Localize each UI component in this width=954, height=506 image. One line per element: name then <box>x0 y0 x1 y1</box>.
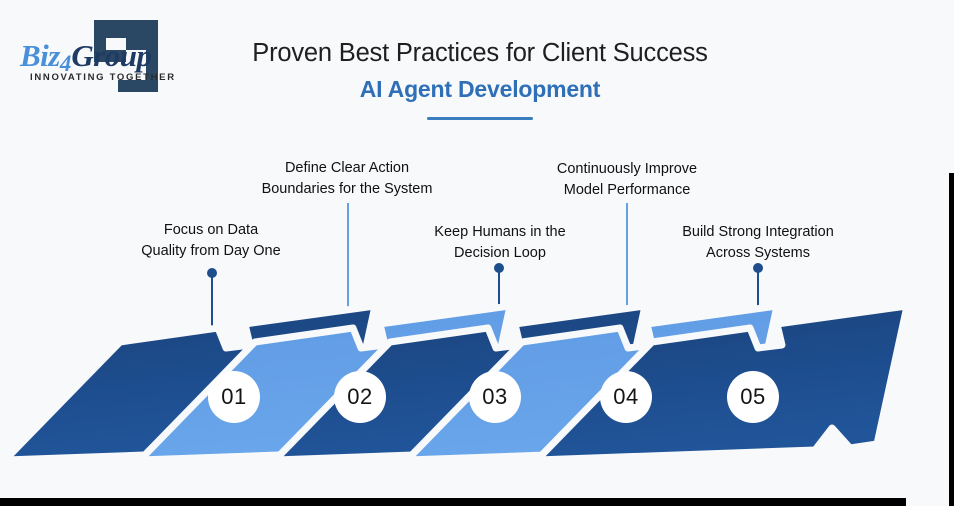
step-label-02: Define Clear Action Boundaries for the S… <box>232 158 462 200</box>
step-label-01-line1: Focus on Data <box>96 220 326 241</box>
right-edge-bar <box>949 173 954 506</box>
step-number-03: 03 <box>482 384 507 410</box>
bottom-edge-bar <box>0 498 906 506</box>
step-label-03-line1: Keep Humans in the <box>385 222 615 243</box>
logo-wordmark: Biz4Group <box>20 38 180 74</box>
step-label-04-line1: Continuously Improve <box>512 159 742 180</box>
step-number-01: 01 <box>221 384 246 410</box>
step-number-04: 04 <box>613 384 638 410</box>
step-label-03: Keep Humans in the Decision Loop <box>385 222 615 264</box>
step-number-badge-03[interactable]: 03 <box>469 371 521 423</box>
step-label-02-line1: Define Clear Action <box>232 158 462 179</box>
step-number-05: 05 <box>740 384 765 410</box>
logo-text-biz: Biz <box>20 38 60 73</box>
step-label-05-line1: Build Strong Integration <box>643 222 873 243</box>
page-title: Proven Best Practices for Client Success <box>180 38 780 69</box>
step-label-05: Build Strong Integration Across Systems <box>643 222 873 264</box>
step-number-badge-01[interactable]: 01 <box>208 371 260 423</box>
step-number-badge-04[interactable]: 04 <box>600 371 652 423</box>
step-label-02-line2: Boundaries for the System <box>232 179 462 200</box>
step-label-04-line2: Model Performance <box>512 180 742 201</box>
step-label-01: Focus on Data Quality from Day One <box>96 220 326 262</box>
step-label-05-line2: Across Systems <box>643 243 873 264</box>
logo-tagline: INNOVATING TOGETHER <box>30 72 176 83</box>
heading-block: Proven Best Practices for Client Success… <box>180 38 780 120</box>
step-number-02: 02 <box>347 384 372 410</box>
step-number-badge-05[interactable]: 05 <box>727 371 779 423</box>
step-label-03-line2: Decision Loop <box>385 243 615 264</box>
page-subtitle: AI Agent Development <box>180 76 780 104</box>
step-label-01-line2: Quality from Day One <box>96 241 326 262</box>
logo-text-group: Group <box>71 38 151 73</box>
step-label-04: Continuously Improve Model Performance <box>512 159 742 201</box>
step-number-badge-02[interactable]: 02 <box>334 371 386 423</box>
title-divider <box>427 117 533 120</box>
slide-canvas: Biz4Group INNOVATING TOGETHER Proven Bes… <box>0 0 954 506</box>
